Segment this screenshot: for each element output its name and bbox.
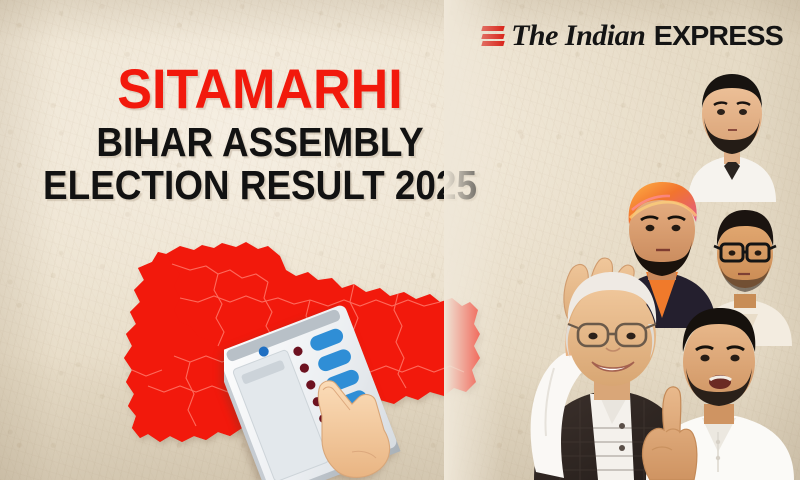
page-subtitle-line-1: BIHAR ASSEMBLY — [26, 121, 494, 164]
headline-block: SITAMARHI BIHAR ASSEMBLY ELECTION RESULT… — [0, 62, 520, 206]
brand-masthead[interactable]: The Indian EXPRESS — [482, 21, 782, 51]
poster-canvas: SITAMARHI BIHAR ASSEMBLY ELECTION RESULT… — [0, 0, 800, 480]
brand-name-serif: The Indian — [511, 21, 645, 51]
page-title-constituency: SITAMARHI — [18, 62, 502, 117]
raised-finger-hand — [643, 387, 697, 480]
evm-graphic — [224, 300, 439, 480]
page-subtitle-line-2: ELECTION RESULT 2025 — [26, 164, 494, 207]
express-slash-mark-icon — [482, 24, 504, 48]
person-tejashwi-yadav — [632, 300, 800, 480]
brand-name-bold: EXPRESS — [654, 22, 783, 50]
